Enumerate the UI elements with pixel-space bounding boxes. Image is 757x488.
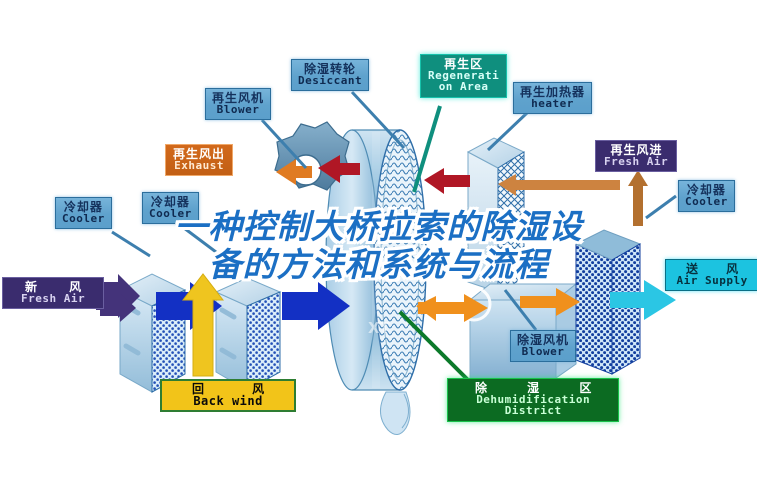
- label-back-wind[interactable]: 回 风 Back wind: [160, 379, 296, 412]
- page-title-line-2: 备的方法和系统与流程: [0, 246, 757, 284]
- label-desiccant-rotor[interactable]: 除湿转轮 Desiccant: [291, 59, 369, 91]
- label-regeneration-area[interactable]: 再生区 Regenerati on Area: [420, 54, 507, 98]
- label-regen-blower[interactable]: 再生风机 Blower: [205, 88, 271, 120]
- label-exhaust-en: Exhaust: [173, 160, 225, 171]
- label-dehumid-blower-en: Blower: [517, 346, 569, 357]
- label-regen-blower-en: Blower: [212, 104, 264, 115]
- label-regen-fresh-air-in[interactable]: 再生风进 Fresh Air: [595, 140, 677, 172]
- label-cooler-right-en: Cooler: [685, 196, 728, 207]
- label-desiccant-rotor-en: Desiccant: [298, 75, 362, 86]
- watermark-text: XT: [368, 319, 391, 337]
- regen-hot-arrow-2: [424, 168, 470, 194]
- page-title-line-1: 一种控制大桥拉索的除湿设: [0, 208, 757, 246]
- label-fresh-air-in-en: Fresh Air: [11, 293, 95, 304]
- label-dehumidification-district[interactable]: 除 湿 区 Dehumidification District: [447, 378, 619, 422]
- label-back-wind-en: Back wind: [170, 395, 286, 407]
- page-title: 一种控制大桥拉索的除湿设 备的方法和系统与流程: [0, 208, 757, 284]
- aftercooler-coil: [216, 278, 280, 390]
- label-regen-heater-en: heater: [520, 98, 585, 109]
- label-exhaust[interactable]: 再生风出 Exhaust: [165, 144, 233, 176]
- label-regeneration-area-en-2: on Area: [428, 81, 499, 92]
- diagram-canvas: XT: [0, 0, 757, 488]
- label-regen-fresh-air-in-en: Fresh Air: [604, 156, 668, 167]
- label-dehumid-blower[interactable]: 除湿风机 Blower: [510, 330, 576, 362]
- label-regen-heater[interactable]: 再生加热器 heater: [513, 82, 592, 114]
- label-dehumidification-district-en-2: District: [457, 405, 609, 416]
